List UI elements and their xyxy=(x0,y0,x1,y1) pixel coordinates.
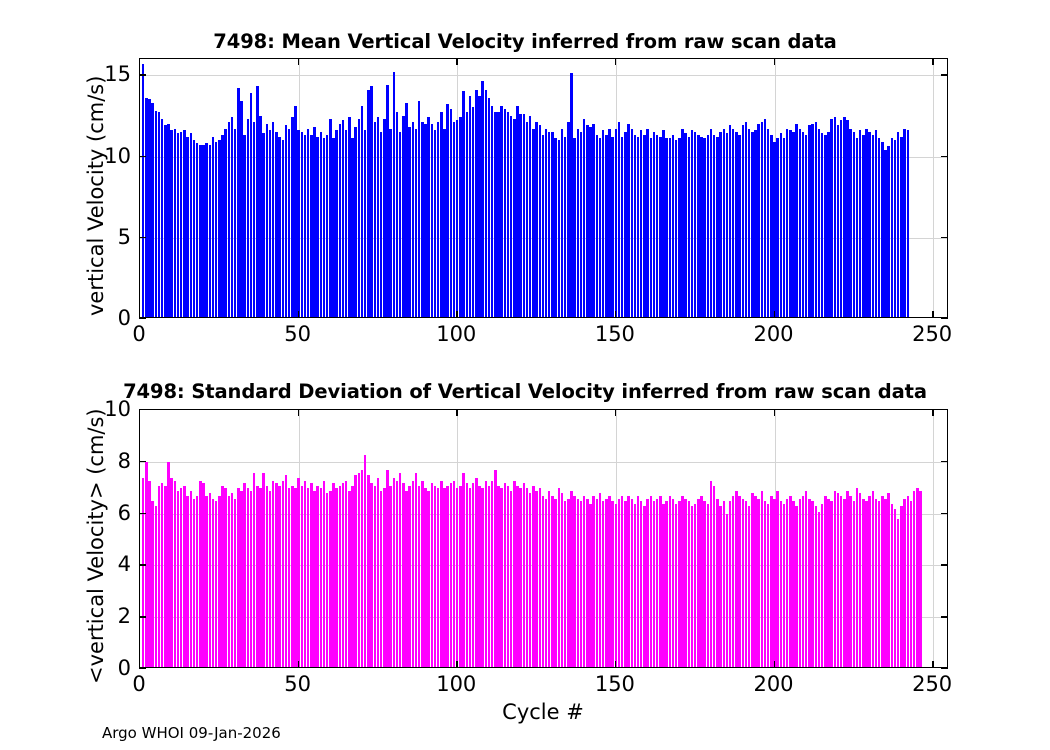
bar xyxy=(907,496,909,667)
bar xyxy=(627,496,629,667)
bar xyxy=(297,478,299,667)
bar xyxy=(903,499,905,667)
bar xyxy=(723,501,725,667)
bar xyxy=(415,473,417,667)
bar xyxy=(675,504,677,667)
x-tick-mark-top xyxy=(932,409,933,416)
bar xyxy=(342,483,344,667)
bar xyxy=(637,496,639,667)
bar xyxy=(830,501,832,667)
bar xyxy=(510,491,512,667)
bar xyxy=(301,486,303,667)
bar xyxy=(170,478,172,667)
bar xyxy=(894,509,896,667)
bar xyxy=(164,486,166,667)
bar xyxy=(275,483,277,667)
y-tick-mark xyxy=(139,409,146,410)
bar xyxy=(443,488,445,667)
bar xyxy=(580,501,582,667)
bar xyxy=(504,483,506,667)
x-tick-mark-top xyxy=(456,409,457,416)
bar xyxy=(329,491,331,667)
x-tick-mark xyxy=(456,661,457,668)
bar xyxy=(421,481,423,667)
bar xyxy=(567,499,569,667)
bar xyxy=(767,504,769,667)
x-tick-mark xyxy=(298,661,299,668)
bar xyxy=(729,501,731,667)
bar xyxy=(868,496,870,667)
bar xyxy=(351,486,353,667)
bar xyxy=(291,486,293,667)
bar xyxy=(180,488,182,667)
bar xyxy=(215,501,217,667)
bar xyxy=(323,481,325,667)
bar xyxy=(481,488,483,667)
bar xyxy=(818,512,820,667)
bar xyxy=(776,491,778,667)
bar xyxy=(427,491,429,667)
bar xyxy=(412,481,414,667)
bar xyxy=(853,501,855,667)
bar xyxy=(424,488,426,667)
x-tick-mark-top xyxy=(615,409,616,416)
bar xyxy=(653,501,655,667)
bar xyxy=(837,493,839,667)
bar xyxy=(288,488,290,667)
bar xyxy=(624,501,626,667)
bar xyxy=(583,496,585,667)
bar xyxy=(840,496,842,667)
bar xyxy=(247,488,249,667)
bar xyxy=(764,501,766,667)
bar xyxy=(713,486,715,667)
bar xyxy=(856,488,858,667)
bar xyxy=(621,496,623,667)
bar xyxy=(884,499,886,667)
bar xyxy=(634,504,636,667)
bar xyxy=(218,496,220,667)
bar xyxy=(339,486,341,667)
bar xyxy=(761,491,763,667)
bar xyxy=(450,483,452,667)
bar xyxy=(789,496,791,667)
bar xyxy=(878,501,880,667)
bar xyxy=(551,496,553,667)
y-tick-mark-right xyxy=(941,409,948,410)
bar xyxy=(678,501,680,667)
bar xyxy=(377,478,379,667)
x-tick-label: 150 xyxy=(595,672,635,696)
bar xyxy=(488,486,490,667)
y-tick-mark xyxy=(139,564,146,565)
bar xyxy=(783,504,785,667)
bar xyxy=(707,504,709,667)
bar xyxy=(262,473,264,667)
bar xyxy=(256,486,258,667)
bar xyxy=(310,483,312,667)
x-tick-mark-top xyxy=(774,409,775,416)
bar xyxy=(485,481,487,667)
x-tick-label: 250 xyxy=(912,672,952,696)
bar xyxy=(526,488,528,667)
bar xyxy=(564,501,566,667)
bar xyxy=(221,486,223,667)
bar xyxy=(859,493,861,667)
y-tick-mark-right xyxy=(941,461,948,462)
bar xyxy=(545,499,547,667)
bar xyxy=(237,488,239,667)
x-tick-label: 100 xyxy=(436,672,476,696)
bar xyxy=(808,499,810,667)
y-tick-mark xyxy=(139,513,146,514)
bar xyxy=(354,475,356,667)
x-tick-mark xyxy=(932,661,933,668)
bar xyxy=(732,496,734,667)
bar xyxy=(548,491,550,667)
bar xyxy=(824,496,826,667)
bar xyxy=(285,475,287,667)
bar xyxy=(558,488,560,667)
bar xyxy=(243,483,245,667)
bar xyxy=(703,501,705,667)
panel-std-vertical-velocity: 7498: Standard Deviation of Vertical Vel… xyxy=(0,0,1050,750)
bar xyxy=(507,486,509,667)
bar xyxy=(815,506,817,667)
x-tick-mark xyxy=(139,661,140,668)
bar xyxy=(148,481,150,667)
bar xyxy=(834,491,836,667)
bar xyxy=(380,491,382,667)
bar xyxy=(313,491,315,667)
bar xyxy=(167,462,169,667)
bar xyxy=(513,481,515,667)
argo-vertical-velocity-figure: 7498: Mean Vertical Velocity inferred fr… xyxy=(0,0,1050,750)
plot-area-std xyxy=(139,409,948,668)
bar xyxy=(519,488,521,667)
bar xyxy=(418,486,420,667)
bar xyxy=(672,499,674,667)
ylabel-std: <vertical Velocity> (cm/s) xyxy=(84,408,108,684)
bar xyxy=(754,496,756,667)
bar xyxy=(599,493,601,667)
bar xyxy=(694,504,696,667)
bar xyxy=(684,499,686,667)
bar xyxy=(523,483,525,667)
bar xyxy=(592,496,594,667)
xlabel-cycle: Cycle # xyxy=(502,700,584,724)
bar xyxy=(615,504,617,667)
bar xyxy=(151,501,153,667)
bar xyxy=(875,499,877,667)
x-tick-label: 50 xyxy=(284,672,311,696)
bar xyxy=(719,506,721,667)
bar xyxy=(646,499,648,667)
bar xyxy=(459,486,461,667)
bar xyxy=(332,483,334,667)
bar xyxy=(209,493,211,667)
bar xyxy=(408,486,410,667)
bar xyxy=(399,473,401,667)
bar xyxy=(596,499,598,667)
bar xyxy=(437,488,439,667)
bar xyxy=(307,488,309,667)
bar xyxy=(174,481,176,667)
bar xyxy=(865,501,867,667)
bar xyxy=(608,496,610,667)
bar xyxy=(453,481,455,667)
bar xyxy=(269,491,271,667)
x-tick-mark xyxy=(774,661,775,668)
bar xyxy=(659,496,661,667)
bar xyxy=(193,499,195,667)
bar xyxy=(177,491,179,667)
bar xyxy=(535,491,537,667)
bar xyxy=(228,496,230,667)
bar xyxy=(294,488,296,667)
bar xyxy=(383,488,385,667)
bar xyxy=(224,488,226,667)
bar xyxy=(364,455,366,667)
bar xyxy=(462,473,464,667)
bar xyxy=(811,501,813,667)
bar xyxy=(497,486,499,667)
bar xyxy=(887,493,889,667)
bar xyxy=(891,504,893,667)
bar xyxy=(640,501,642,667)
bar xyxy=(881,496,883,667)
bar xyxy=(843,499,845,667)
bar xyxy=(650,496,652,667)
bar xyxy=(446,486,448,667)
bar xyxy=(500,488,502,667)
bar xyxy=(234,499,236,667)
bar xyxy=(529,493,531,667)
bar xyxy=(827,499,829,667)
bar xyxy=(665,501,667,667)
bar xyxy=(773,499,775,667)
bar xyxy=(345,481,347,667)
bar xyxy=(155,506,157,667)
bar xyxy=(757,499,759,667)
bar xyxy=(742,499,744,667)
bar-series-std xyxy=(140,410,947,667)
bar xyxy=(554,499,556,667)
bar xyxy=(577,499,579,667)
bar xyxy=(316,486,318,667)
bar xyxy=(402,483,404,667)
bar xyxy=(795,506,797,667)
bar xyxy=(561,493,563,667)
bar xyxy=(348,491,350,667)
bar xyxy=(602,501,604,667)
bar xyxy=(900,506,902,667)
bar xyxy=(539,488,541,667)
bar xyxy=(643,506,645,667)
bar xyxy=(611,501,613,667)
bar xyxy=(386,470,388,667)
y-tick-mark xyxy=(139,461,146,462)
bar xyxy=(849,496,851,667)
bar xyxy=(710,481,712,667)
bar xyxy=(751,493,753,667)
bar xyxy=(688,501,690,667)
bar xyxy=(573,496,575,667)
bar xyxy=(272,481,274,667)
bar xyxy=(142,478,144,667)
bar xyxy=(491,481,493,667)
bar xyxy=(202,483,204,667)
bar xyxy=(586,499,588,667)
bar xyxy=(472,483,474,667)
bar xyxy=(846,491,848,667)
bar xyxy=(738,496,740,667)
bar xyxy=(199,481,201,667)
y-tick-mark-right xyxy=(941,513,948,514)
bar xyxy=(735,491,737,667)
bar xyxy=(374,486,376,667)
bar xyxy=(304,481,306,667)
bar xyxy=(780,501,782,667)
bar xyxy=(361,470,363,667)
bar xyxy=(393,478,395,667)
bar xyxy=(456,488,458,667)
bar xyxy=(570,491,572,667)
bar xyxy=(183,486,185,667)
bar xyxy=(282,481,284,667)
x-tick-mark xyxy=(615,661,616,668)
bar xyxy=(320,488,322,667)
bar xyxy=(745,501,747,667)
bar xyxy=(475,478,477,667)
bar xyxy=(161,483,163,667)
bar xyxy=(770,496,772,667)
figure-footer-credit: Argo WHOI 09-Jan-2026 xyxy=(102,724,281,742)
bar xyxy=(697,499,699,667)
panel-title-std: 7498: Standard Deviation of Vertical Vel… xyxy=(0,380,1050,403)
bar xyxy=(589,504,591,667)
bar xyxy=(190,491,192,667)
bar xyxy=(266,486,268,667)
bar xyxy=(440,481,442,667)
bar xyxy=(913,491,915,667)
bar xyxy=(916,488,918,667)
bar xyxy=(494,470,496,667)
y-tick-mark-right xyxy=(941,616,948,617)
bar xyxy=(478,486,480,667)
bar xyxy=(469,488,471,667)
bar xyxy=(231,493,233,667)
y-tick-mark xyxy=(139,616,146,617)
bar xyxy=(618,499,620,667)
bar xyxy=(158,486,160,667)
y-tick-mark-right xyxy=(941,668,948,669)
bar xyxy=(259,488,261,667)
y-tick-mark-right xyxy=(941,564,948,565)
bar xyxy=(662,504,664,667)
bar xyxy=(872,491,874,667)
bar xyxy=(434,486,436,667)
bar xyxy=(358,473,360,667)
bar xyxy=(726,514,728,667)
bar xyxy=(466,483,468,667)
bar xyxy=(716,499,718,667)
bar xyxy=(335,488,337,667)
bar xyxy=(681,496,683,667)
bar xyxy=(431,483,433,667)
bar xyxy=(253,473,255,667)
bar xyxy=(792,501,794,667)
bar xyxy=(862,499,864,667)
bar xyxy=(532,486,534,667)
bar xyxy=(196,496,198,667)
bar xyxy=(240,491,242,667)
bar xyxy=(786,499,788,667)
bar xyxy=(370,483,372,667)
bar xyxy=(186,496,188,667)
y-tick-mark xyxy=(139,668,146,669)
bar xyxy=(367,475,369,667)
bar xyxy=(278,486,280,667)
bar xyxy=(821,504,823,667)
x-tick-label: 0 xyxy=(132,672,145,696)
bar xyxy=(396,481,398,667)
bar xyxy=(605,499,607,667)
bar xyxy=(802,496,804,667)
bar xyxy=(748,506,750,667)
x-tick-mark-top xyxy=(298,409,299,416)
bar xyxy=(910,501,912,667)
bar xyxy=(405,491,407,667)
bar xyxy=(669,496,671,667)
bar xyxy=(805,491,807,667)
bar xyxy=(250,491,252,667)
bar xyxy=(656,499,658,667)
bar xyxy=(691,506,693,667)
bar xyxy=(631,499,633,667)
x-tick-label: 200 xyxy=(753,672,793,696)
bar xyxy=(542,496,544,667)
bar xyxy=(799,499,801,667)
bar xyxy=(389,486,391,667)
bar xyxy=(919,491,921,667)
bar xyxy=(897,519,899,667)
bar xyxy=(205,496,207,667)
bar xyxy=(700,496,702,667)
bar xyxy=(516,486,518,667)
bar xyxy=(326,493,328,667)
bar xyxy=(212,499,214,667)
